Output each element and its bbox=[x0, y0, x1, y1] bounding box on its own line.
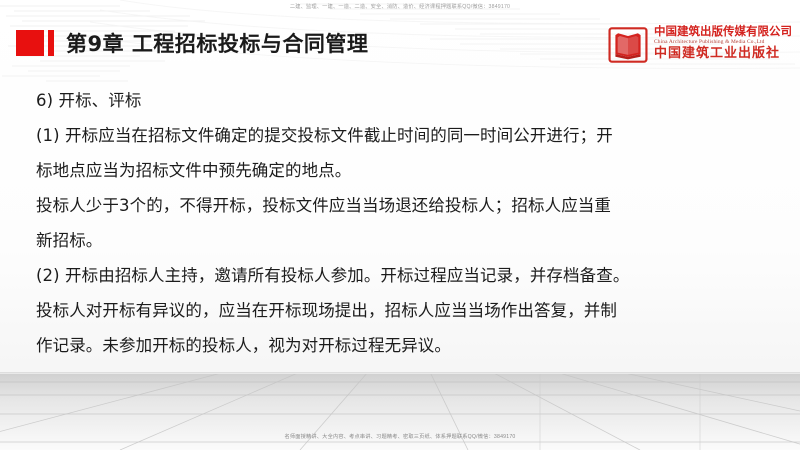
publisher-text-group: 中国建筑出版传媒有限公司 China Architecture Publishi… bbox=[654, 25, 792, 62]
publisher-imprint-cn: 中国建筑工业出版社 bbox=[654, 46, 792, 62]
slide-canvas: 二建、监理、一建、一造、二造、安全、消防、造价、经济课程押题联系QQ/微信：38… bbox=[0, 0, 800, 450]
body-heading: 6) 开标、评标 bbox=[36, 84, 782, 118]
body-line: (2) 开标由招标人主持，邀请所有投标人参加。开标过程应当记录，并存档备查。 bbox=[36, 258, 782, 293]
publisher-company-cn: 中国建筑出版传媒有限公司 bbox=[654, 25, 792, 38]
page-title: 第9章 工程招标投标与合同管理 bbox=[66, 28, 368, 58]
open-book-logo-icon bbox=[608, 27, 648, 63]
body-line: 新招标。 bbox=[36, 223, 782, 258]
publisher-logo-block: 中国建筑出版传媒有限公司 China Architecture Publishi… bbox=[608, 25, 792, 63]
chapter-title-group: 第9章 工程招标投标与合同管理 bbox=[16, 28, 368, 58]
accent-bar-large-icon bbox=[16, 30, 44, 56]
body-line: 投标人少于3个的，不得开标，投标文件应当当场退还给投标人；招标人应当重 bbox=[36, 188, 782, 223]
accent-bar-small-icon bbox=[48, 30, 54, 56]
body-line: 投标人对开标有异议的，应当在开标现场提出，招标人应当当场作出答复，并制 bbox=[36, 293, 782, 328]
slide-header: 第9章 工程招标投标与合同管理 中国建筑出版传媒有限公司 China Archi… bbox=[0, 0, 800, 82]
floor-horizon-line bbox=[0, 372, 800, 374]
body-line: 作记录。未参加开标的投标人，视为对开标过程无异议。 bbox=[36, 328, 782, 363]
body-line: 标地点应当为招标文件中预先确定的地点。 bbox=[36, 153, 782, 188]
publisher-company-en: China Architecture Publishing & Media Co… bbox=[654, 38, 792, 46]
bottom-watermark-text: 名师面授精讲、大全内容、考点串讲、习题精考、密取三页纸、体系押题联系QQ/微信：… bbox=[0, 433, 800, 440]
body-line: (1) 开标应当在招标文件确定的提交投标文件截止时间的同一时间公开进行；开 bbox=[36, 118, 782, 153]
slide-body: 6) 开标、评标 (1) 开标应当在招标文件确定的提交投标文件截止时间的同一时间… bbox=[36, 84, 782, 363]
